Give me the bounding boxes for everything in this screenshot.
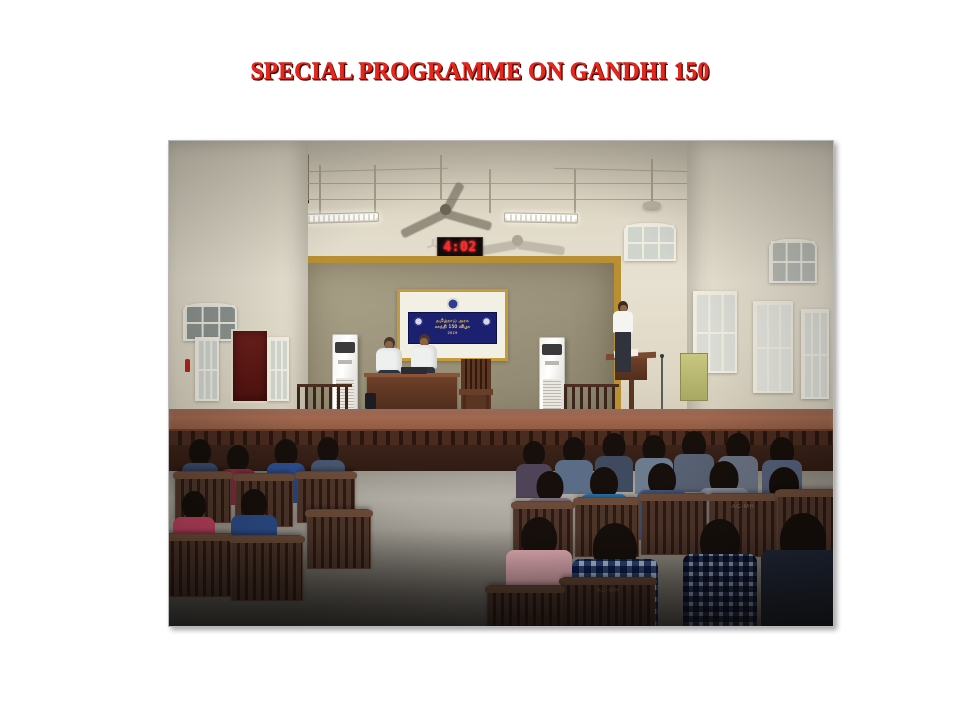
- audience-member: [769, 437, 795, 469]
- chair-engraved-label: AC-MH: [732, 504, 755, 510]
- banner-logo-left-icon: [414, 317, 423, 326]
- right-wall-window-tall-2: [753, 301, 793, 393]
- audience-member-front: [519, 517, 559, 563]
- standing-speaker: [611, 301, 635, 375]
- audience-chair: [231, 535, 303, 601]
- clerestory-window-right: [624, 223, 676, 261]
- light-rod: [319, 165, 321, 215]
- right-wall-window-tall-3: [801, 309, 829, 399]
- stage-table: [367, 373, 457, 411]
- banner-line-1: தமிழ்நாடு அரசு: [436, 319, 469, 324]
- page-title: SPECIAL PROGRAMME ON GANDHI 150: [29, 58, 931, 86]
- microphone-stand: [661, 357, 663, 413]
- bag-on-stage: [365, 393, 376, 409]
- audience-member: [521, 441, 547, 473]
- digital-clock: 4:02: [437, 237, 483, 257]
- stage-empty-chair: [461, 359, 491, 411]
- pendant-lamp-icon: [643, 201, 661, 209]
- light-rod: [374, 165, 376, 215]
- audience-member: [315, 437, 341, 469]
- audience-member: [601, 433, 627, 465]
- audience-member: [179, 491, 209, 527]
- banner-line-2: காந்தி 150 விழா: [435, 325, 471, 330]
- audience-member: [187, 439, 213, 473]
- light-rod: [574, 169, 576, 213]
- left-wall-window: [183, 303, 237, 341]
- storage-cupboard: [680, 353, 708, 401]
- fan-rod: [651, 159, 653, 203]
- tube-light-icon: [504, 212, 578, 223]
- ceiling-fan-icon: [469, 227, 565, 253]
- audience-member: [239, 489, 269, 525]
- institution-emblem-icon: [447, 298, 459, 310]
- clock-time-display: 4:02: [443, 240, 476, 255]
- banner-logo-right-icon: [482, 317, 491, 326]
- ac-tower-right: [539, 337, 565, 417]
- audience-member-front: [781, 513, 825, 565]
- audience-member: [681, 431, 707, 463]
- event-photograph: 4:02 தமிழ்நாடு அரசு காந்தி 150 விழா 2019: [169, 141, 833, 626]
- left-wall-glass-door: [195, 337, 219, 401]
- audience-chair: [169, 533, 233, 597]
- event-photo-frame: 4:02 தமிழ்நாடு அரசு காந்தி 150 விழா 2019: [168, 140, 834, 627]
- audience-member-front: [593, 523, 637, 573]
- audience-chair-front: AC-MH: [561, 577, 655, 626]
- audience-chair: [641, 493, 707, 555]
- left-wall-glass-door-2: [267, 337, 289, 401]
- right-wall-arched-window: [769, 239, 817, 283]
- audience-member-front: [699, 519, 741, 567]
- fan-rod: [440, 155, 442, 199]
- audience-member: [561, 437, 587, 469]
- banner-line-3: 2019: [448, 331, 458, 336]
- fire-extinguisher-icon: [185, 359, 190, 372]
- chair-engraved-label: AC-MH: [597, 588, 620, 594]
- ceiling-fan-icon: [397, 196, 493, 222]
- audience-chair-front: [487, 585, 563, 626]
- stage-platform-top: [169, 409, 833, 431]
- audience-chair: [307, 509, 371, 569]
- table-items: [401, 367, 427, 374]
- audience-member: [273, 439, 299, 473]
- hall-door-left: [231, 329, 269, 403]
